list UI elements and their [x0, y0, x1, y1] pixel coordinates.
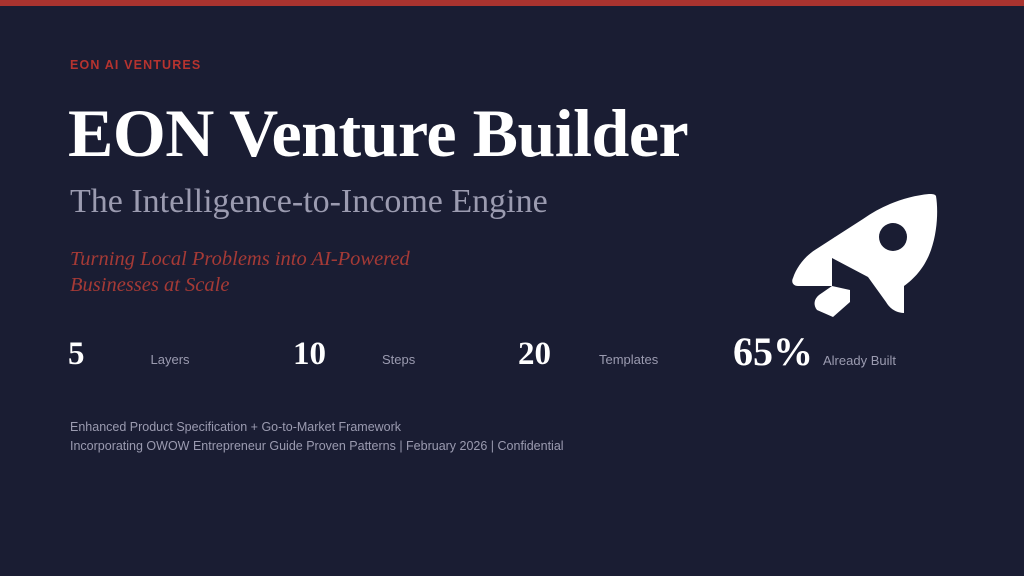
stat-item: 65% Already Built [733, 332, 896, 372]
stat-label: Templates [599, 353, 658, 366]
stat-item: 5 Layers [68, 338, 190, 371]
stat-label: Layers [151, 353, 190, 366]
stat-value: 20 [518, 338, 551, 371]
footer-meta: Enhanced Product Specification + Go-to-M… [70, 418, 564, 457]
stat-label: Already Built [823, 354, 896, 367]
footer-line-2: Incorporating OWOW Entrepreneur Guide Pr… [70, 437, 564, 456]
page-tagline: Turning Local Problems into AI-Powered B… [70, 246, 500, 298]
page-title: EON Venture Builder [68, 99, 688, 167]
stat-value: 10 [293, 338, 326, 371]
stat-value: 65% [733, 332, 813, 372]
stat-value: 5 [68, 338, 85, 371]
stats-row: 5 Layers 10 Steps 20 Templates 65% Alrea… [68, 330, 948, 380]
stat-item: 20 Templates [518, 338, 658, 371]
title-slide: EON AI VENTURES EON Venture Builder The … [0, 0, 1024, 576]
rocket-icon [788, 192, 948, 317]
stat-label: Steps [382, 353, 415, 366]
footer-line-1: Enhanced Product Specification + Go-to-M… [70, 418, 564, 437]
top-accent-bar [0, 0, 1024, 6]
brand-eyebrow: EON AI VENTURES [70, 58, 201, 72]
stat-item: 10 Steps [293, 338, 415, 371]
page-subtitle: The Intelligence-to-Income Engine [70, 182, 548, 221]
